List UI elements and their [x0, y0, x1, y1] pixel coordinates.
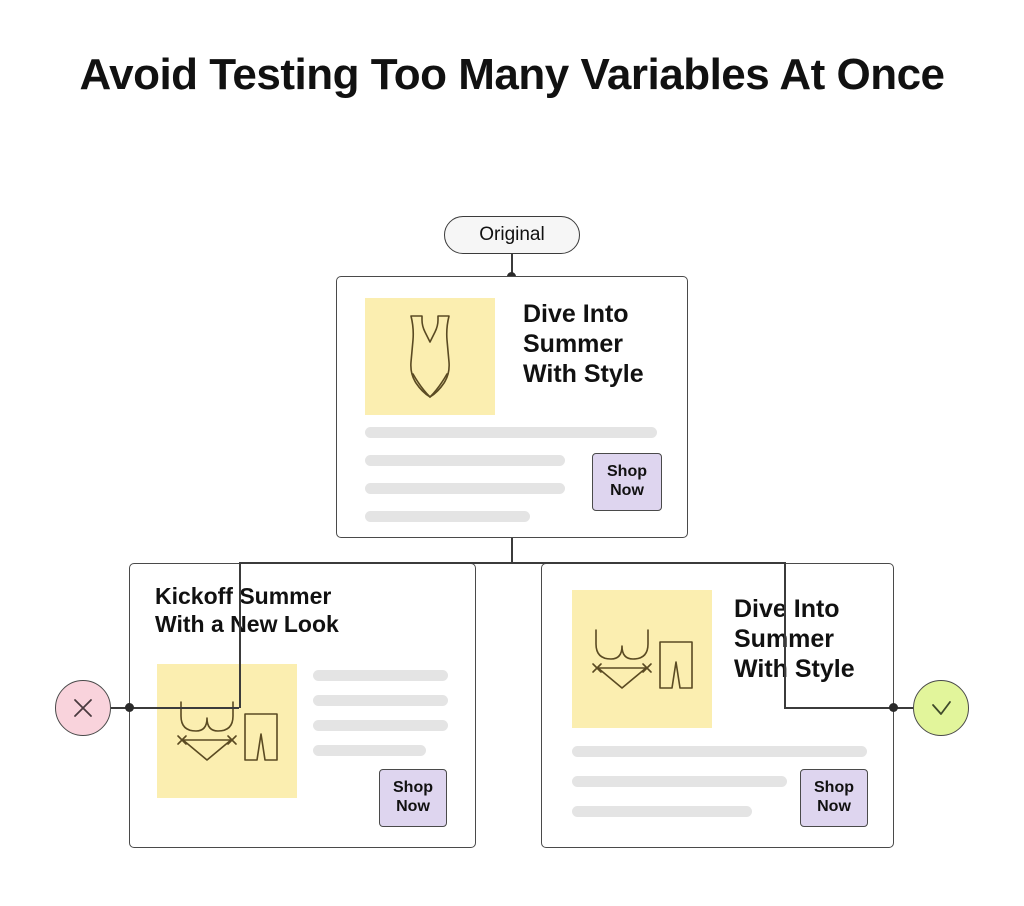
- status-badge-approve: [913, 680, 969, 736]
- card-variant-b[interactable]: Dive Into Summer With Style Shop Now: [541, 563, 894, 848]
- original-shop-now-button[interactable]: Shop Now: [592, 453, 662, 511]
- connector-to-variant-b: [784, 562, 786, 708]
- connector-dot-variant-b: [889, 703, 898, 712]
- original-text-bar: [365, 511, 530, 522]
- page-title: Avoid Testing Too Many Variables At Once: [0, 48, 1024, 102]
- original-badge: Original: [444, 216, 580, 254]
- original-badge-label: Original: [479, 224, 544, 246]
- bikini-and-shorts-icon: [590, 628, 694, 690]
- connector-original-down: [511, 538, 513, 563]
- card-variant-a[interactable]: Kickoff Summer With a New Look Shop Now: [129, 563, 476, 848]
- variant-a-text-bar: [313, 670, 448, 681]
- variant-a-shop-now-button[interactable]: Shop Now: [379, 769, 447, 827]
- status-badge-reject: [55, 680, 111, 736]
- variant-b-thumbnail: [572, 590, 712, 728]
- original-text-bar: [365, 427, 657, 438]
- one-piece-swimsuit-icon: [397, 312, 463, 402]
- variant-a-text-bar: [313, 695, 448, 706]
- variant-a-text-bar: [313, 720, 448, 731]
- variant-a-thumbnail: [157, 664, 297, 798]
- variant-b-headline: Dive Into Summer With Style: [734, 594, 884, 684]
- connector-to-variant-a: [239, 562, 241, 708]
- variant-b-text-bar: [572, 746, 867, 757]
- variant-a-headline: Kickoff Summer With a New Look: [155, 583, 455, 638]
- original-thumbnail: [365, 298, 495, 415]
- variant-b-text-bar: [572, 806, 752, 817]
- original-text-bar: [365, 483, 565, 494]
- connector-branch-bar: [239, 562, 784, 564]
- connector-dot-variant-a: [125, 703, 134, 712]
- original-text-bar: [365, 455, 565, 466]
- original-headline: Dive Into Summer With Style: [523, 299, 673, 389]
- card-original[interactable]: Dive Into Summer With Style Shop Now: [336, 276, 688, 538]
- variant-b-text-bar: [572, 776, 787, 787]
- x-icon: [70, 695, 96, 721]
- bikini-and-shorts-icon: [175, 700, 279, 762]
- variant-b-shop-now-button[interactable]: Shop Now: [800, 769, 868, 827]
- variant-a-text-bar: [313, 745, 426, 756]
- check-icon: [927, 694, 955, 722]
